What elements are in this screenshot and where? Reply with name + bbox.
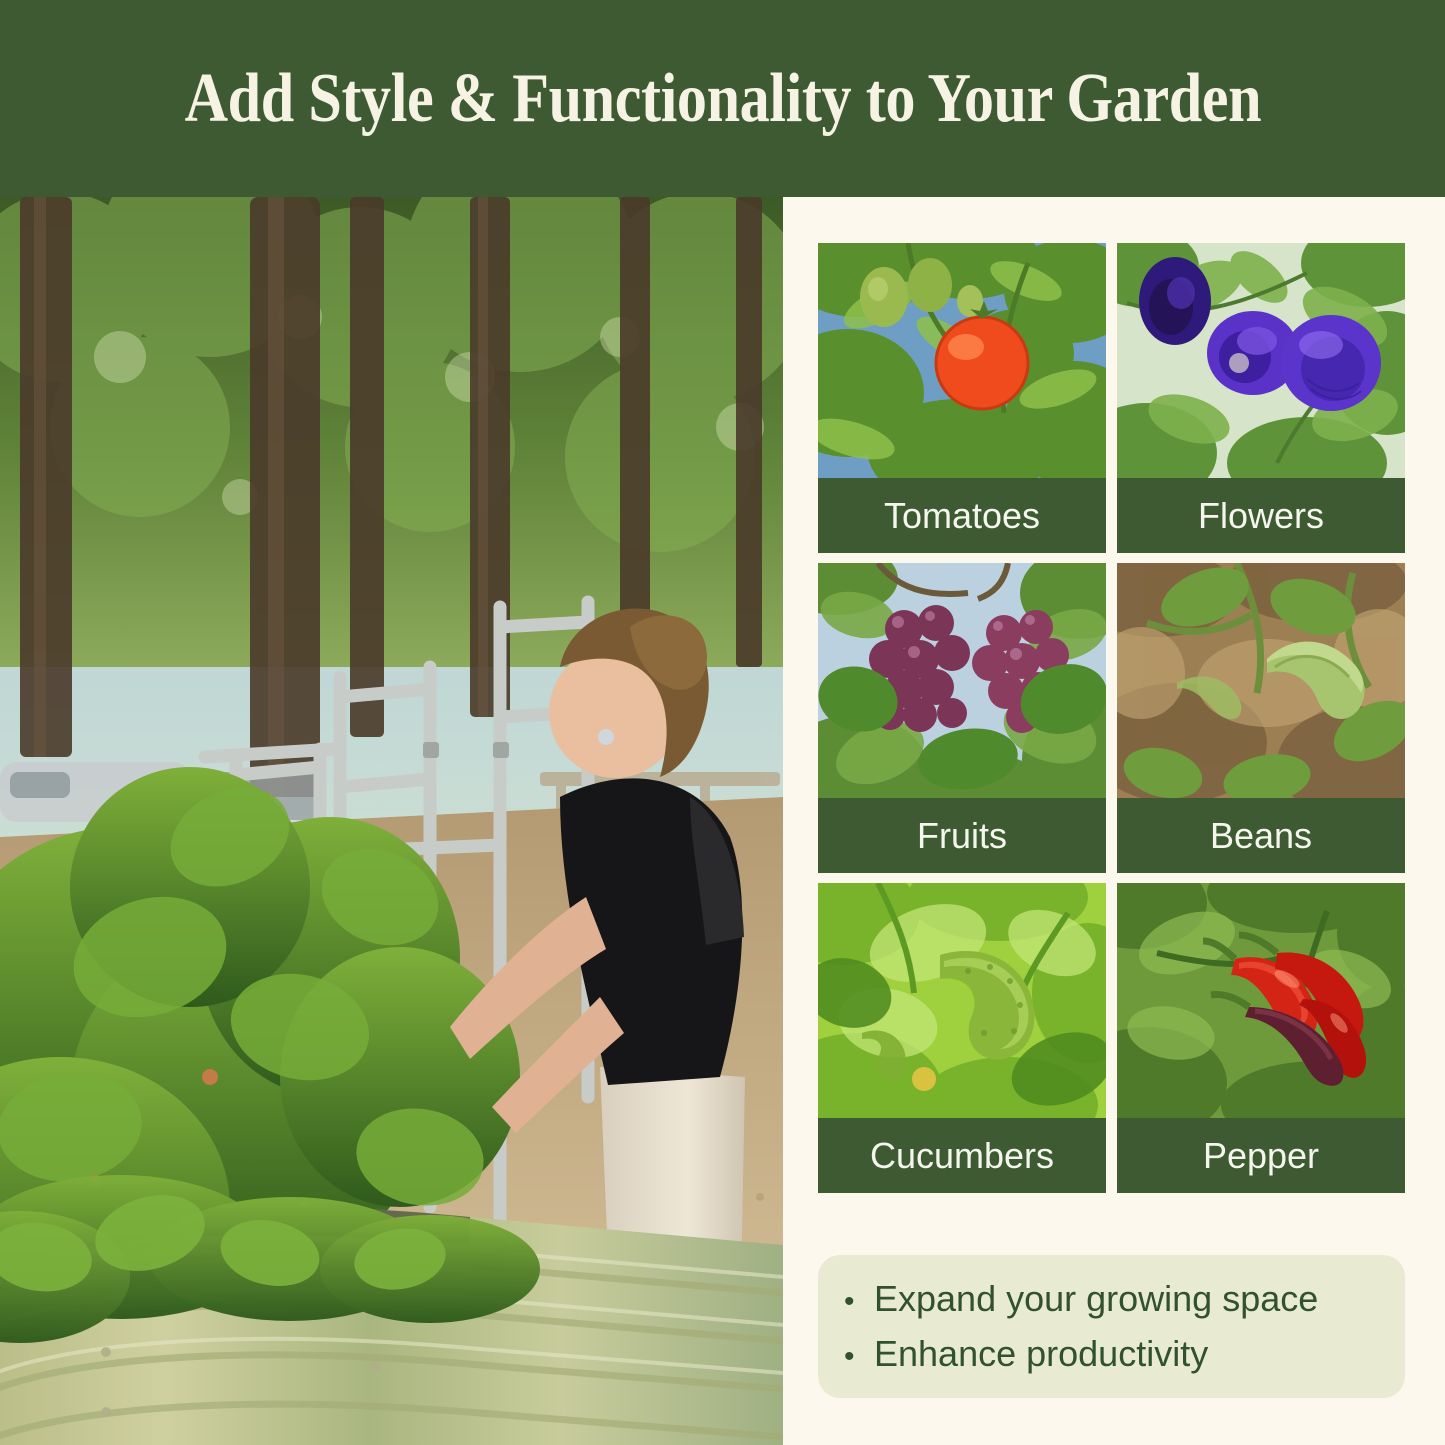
crop-tile-pepper[interactable]: Pepper xyxy=(1117,883,1405,1193)
butterfly-pea-flower-illustration xyxy=(1117,243,1405,478)
crop-tile-flowers[interactable]: Flowers xyxy=(1117,243,1405,553)
crop-tile-label: Flowers xyxy=(1198,498,1324,534)
flowers-photo xyxy=(1117,243,1405,478)
tomato-illustration xyxy=(818,243,1106,478)
page-title: Add Style & Functionality to Your Garden xyxy=(184,64,1261,134)
hero-illustration xyxy=(0,197,783,1445)
right-panel: Tomatoes xyxy=(783,197,1445,1445)
header-banner: Add Style & Functionality to Your Garden xyxy=(0,0,1445,197)
benefit-label: Expand your growing space xyxy=(874,1278,1318,1320)
crop-tile-grid: Tomatoes xyxy=(818,243,1405,1193)
tomatoes-photo xyxy=(818,243,1106,478)
cucumber-illustration xyxy=(818,883,1106,1118)
crop-tile-label: Beans xyxy=(1210,818,1312,854)
crop-tile-label: Pepper xyxy=(1203,1138,1319,1174)
crop-tile-caption: Fruits xyxy=(818,798,1106,873)
crop-tile-label: Fruits xyxy=(917,818,1007,854)
bean-pod-illustration xyxy=(1117,563,1405,798)
cucumbers-photo xyxy=(818,883,1106,1118)
grapes-illustration xyxy=(818,563,1106,798)
crop-tile-caption: Flowers xyxy=(1117,478,1405,553)
crop-tile-label: Tomatoes xyxy=(884,498,1040,534)
pepper-photo xyxy=(1117,883,1405,1118)
crop-tile-beans[interactable]: Beans xyxy=(1117,563,1405,873)
crop-tile-caption: Tomatoes xyxy=(818,478,1106,553)
benefits-box: • Expand your growing space • Enhance pr… xyxy=(818,1255,1405,1398)
benefit-item: • Enhance productivity xyxy=(844,1333,1405,1375)
crop-tile-fruits[interactable]: Fruits xyxy=(818,563,1106,873)
benefit-item: • Expand your growing space xyxy=(844,1278,1405,1320)
benefit-label: Enhance productivity xyxy=(874,1333,1208,1375)
crop-tile-tomatoes[interactable]: Tomatoes xyxy=(818,243,1106,553)
chili-pepper-illustration xyxy=(1117,883,1405,1118)
hero-photo-garden-bed xyxy=(0,197,783,1445)
crop-tile-caption: Beans xyxy=(1117,798,1405,873)
marketing-infographic: Add Style & Functionality to Your Garden xyxy=(0,0,1445,1445)
bullet-icon: • xyxy=(844,1342,874,1372)
crop-tile-caption: Pepper xyxy=(1117,1118,1405,1193)
fruits-photo xyxy=(818,563,1106,798)
crop-tile-cucumbers[interactable]: Cucumbers xyxy=(818,883,1106,1193)
crop-tile-caption: Cucumbers xyxy=(818,1118,1106,1193)
beans-photo xyxy=(1117,563,1405,798)
bullet-icon: • xyxy=(844,1287,874,1317)
crop-tile-label: Cucumbers xyxy=(870,1138,1054,1174)
